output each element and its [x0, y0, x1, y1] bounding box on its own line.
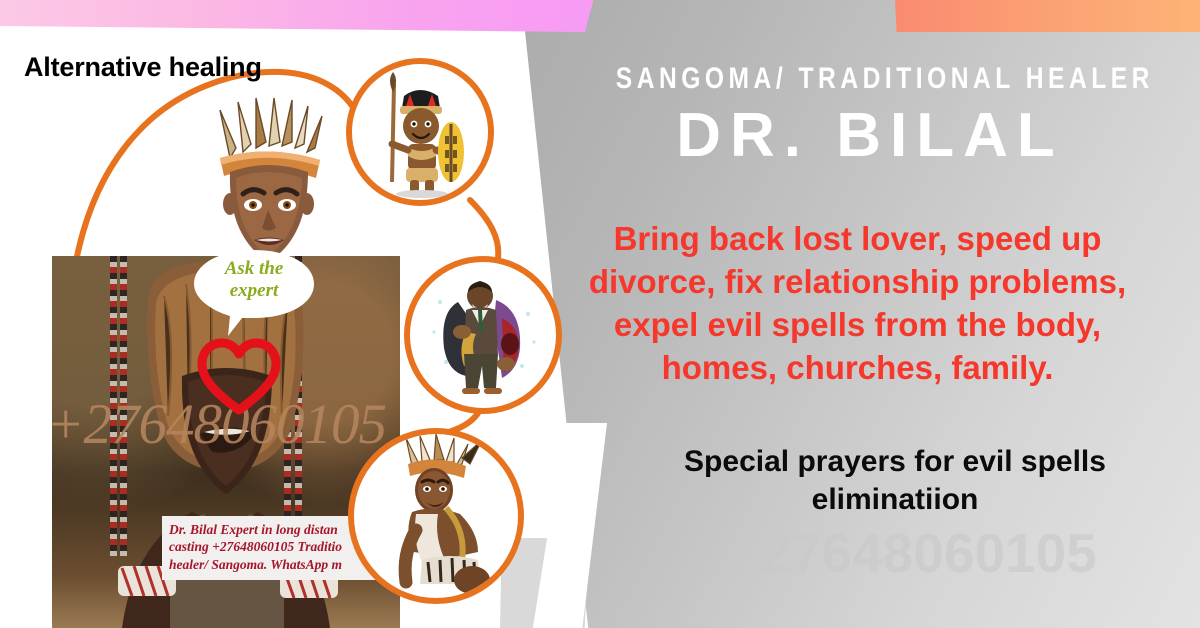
- cloaked-healer-figure-icon: [410, 262, 556, 408]
- circle-cloaked-healer: [404, 256, 562, 414]
- heart-outline-icon: [196, 338, 282, 416]
- pink-top-bar: [0, 0, 594, 32]
- page-title: Alternative healing: [24, 52, 262, 83]
- speech-bubble-text: Ask the expert: [208, 258, 300, 302]
- zulu-warrior-cartoon-icon: [352, 64, 488, 200]
- services-line: expel evil spells from the body,: [545, 304, 1170, 347]
- orange-top-bar: [895, 0, 1200, 32]
- poster-canvas: Alternative healing: [0, 0, 1200, 628]
- healer-name: DR. BILAL: [560, 100, 1180, 171]
- services-line: homes, churches, family.: [545, 347, 1170, 390]
- circle-zulu-warrior: [346, 58, 494, 206]
- circle-kneeling-warrior: [348, 428, 524, 604]
- services-text: Bring back lost lover, speed up divorce,…: [545, 218, 1170, 390]
- special-prayers-text: Special prayers for evil spells eliminat…: [615, 443, 1175, 520]
- watermark-phone-number: +27648060105: [640, 521, 1185, 585]
- kneeling-warrior-illustration-icon: [354, 434, 518, 598]
- services-line: divorce, fix relationship problems,: [545, 261, 1170, 304]
- services-line: Bring back lost lover, speed up: [545, 218, 1170, 261]
- kicker-headline: SANGOMA/ TRADITIONAL HEALER: [616, 62, 1124, 96]
